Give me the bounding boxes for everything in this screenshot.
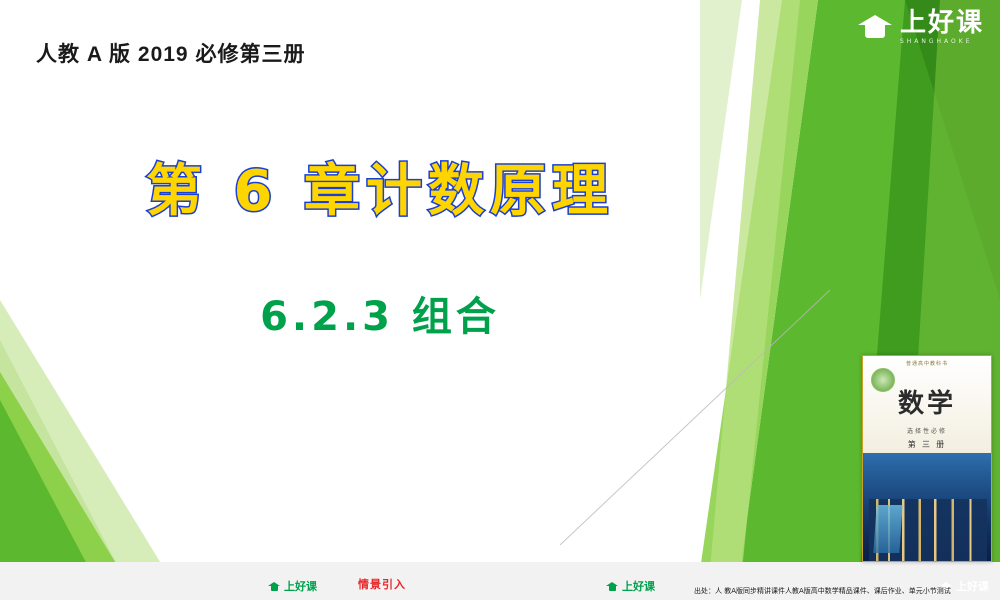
- footer-logo-center: 上好课: [606, 578, 655, 594]
- footer-note-line1: 出处：人 教A版同步精讲课件人教A版高中数学精品课件、课后作业、单元小节测试: [694, 586, 994, 597]
- textbook-subtitle: 选择性必修: [863, 426, 991, 435]
- textbook-top-line: 普通高中教科书: [863, 356, 991, 367]
- graduation-cap-icon-small-left: [268, 580, 281, 593]
- chapter-title: 第 6 章计数原理: [0, 146, 760, 227]
- footer-note: 出处：人 教A版同步精讲课件人教A版高中数学精品课件、课后作业、单元小节测试: [694, 586, 994, 597]
- brand-logo: 上好课 SHANGHAOKE: [858, 10, 984, 45]
- textbook-volume: 第 三 册: [863, 439, 991, 450]
- footer-section-tag: 情景引入: [358, 576, 406, 592]
- textbook-cover-photo: [863, 453, 991, 561]
- brand-logo-sub: SHANGHAOKE: [900, 39, 984, 45]
- textbook-cover-image: 普通高中教科书 数学 选择性必修 第 三 册: [862, 355, 992, 562]
- section-title: 6.2.3 组合: [0, 284, 760, 342]
- footer-logo-left-text: 上好课: [284, 578, 317, 594]
- textbook-emblem-icon: [871, 368, 895, 392]
- footer-logo-center-text: 上好课: [622, 578, 655, 594]
- graduation-cap-icon-small-center: [606, 580, 619, 593]
- brand-logo-main: 上好课: [900, 8, 984, 38]
- edition-label: 人教 A 版 2019 必修第三册: [36, 38, 305, 68]
- graduation-cap-icon: [858, 11, 892, 45]
- footer-logo-left: 上好课: [268, 578, 317, 594]
- brand-logo-text: 上好课 SHANGHAOKE: [900, 10, 984, 45]
- slide-canvas: 人教 A 版 2019 必修第三册 上好课 SHANGHAOKE 第 6 章计数…: [0, 0, 1000, 600]
